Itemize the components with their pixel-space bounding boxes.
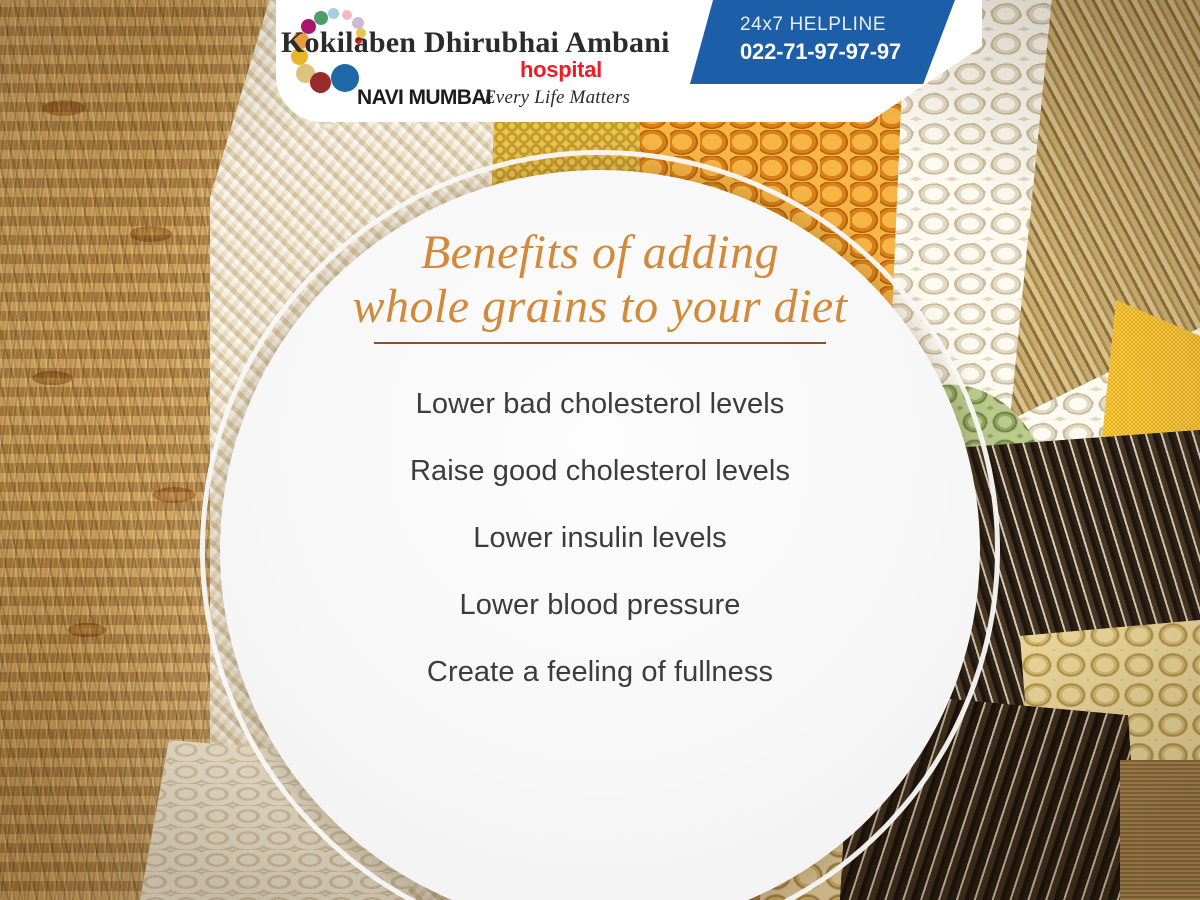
helpline-banner: 24x7 HELPLINE 022-71-97-97-97: [690, 0, 955, 84]
title-underline-rule: [374, 342, 826, 344]
helpline-label: 24x7 HELPLINE: [740, 14, 886, 36]
hospital-logo-subtext: hospital: [520, 57, 602, 83]
list-item: Raise good cholesterol levels: [220, 455, 980, 488]
content-circle: Benefits of adding whole grains to your …: [220, 170, 980, 900]
page-title-line2: whole grains to your diet: [352, 282, 847, 332]
hospital-logo-tagline: Every Life Matters: [484, 87, 630, 109]
benefits-list: Lower bad cholesterol levels Raise good …: [220, 388, 980, 689]
hospital-logo-name: Kokilaben Dhirubhai Ambani: [281, 26, 670, 60]
page-title-line1: Benefits of adding: [352, 228, 847, 278]
list-item: Lower insulin levels: [220, 522, 980, 555]
list-item: Create a feeling of fullness: [220, 656, 980, 689]
hospital-logo-city: NAVI MUMBAI: [357, 86, 491, 110]
page-title: Benefits of adding whole grains to your …: [352, 228, 847, 332]
helpline-number[interactable]: 022-71-97-97-97: [740, 39, 901, 65]
list-item: Lower bad cholesterol levels: [220, 388, 980, 421]
list-item: Lower blood pressure: [220, 589, 980, 622]
poster-canvas: Kokilaben Dhirubhai Ambani hospital NAVI…: [0, 0, 1200, 900]
background-burlap-sack: [1120, 760, 1200, 900]
